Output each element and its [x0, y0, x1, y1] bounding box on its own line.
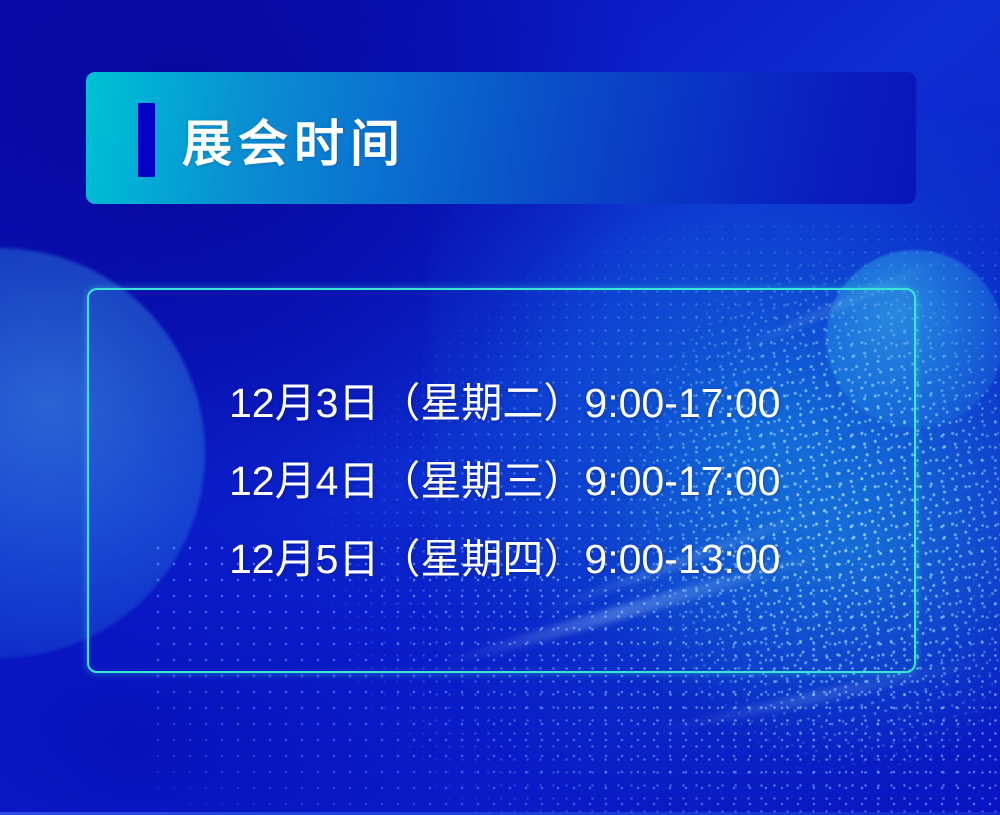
schedule-row-2: 12月4日（星期三）9:00-17:00: [229, 442, 914, 520]
schedule-row-1: 12月3日（星期二）9:00-17:00: [229, 364, 914, 442]
schedule-card: 12月3日（星期二）9:00-17:00 12月4日（星期三）9:00-17:0…: [87, 288, 916, 673]
schedule-row-3: 12月5日（星期四）9:00-13:00: [229, 520, 914, 598]
header-accent-bar: [138, 103, 155, 177]
page-title: 展会时间: [182, 103, 406, 177]
poster-canvas: 展会时间 12月3日（星期二）9:00-17:00 12月4日（星期三）9:00…: [0, 0, 1000, 815]
schedule-list: 12月3日（星期二）9:00-17:00 12月4日（星期三）9:00-17:0…: [89, 290, 914, 671]
